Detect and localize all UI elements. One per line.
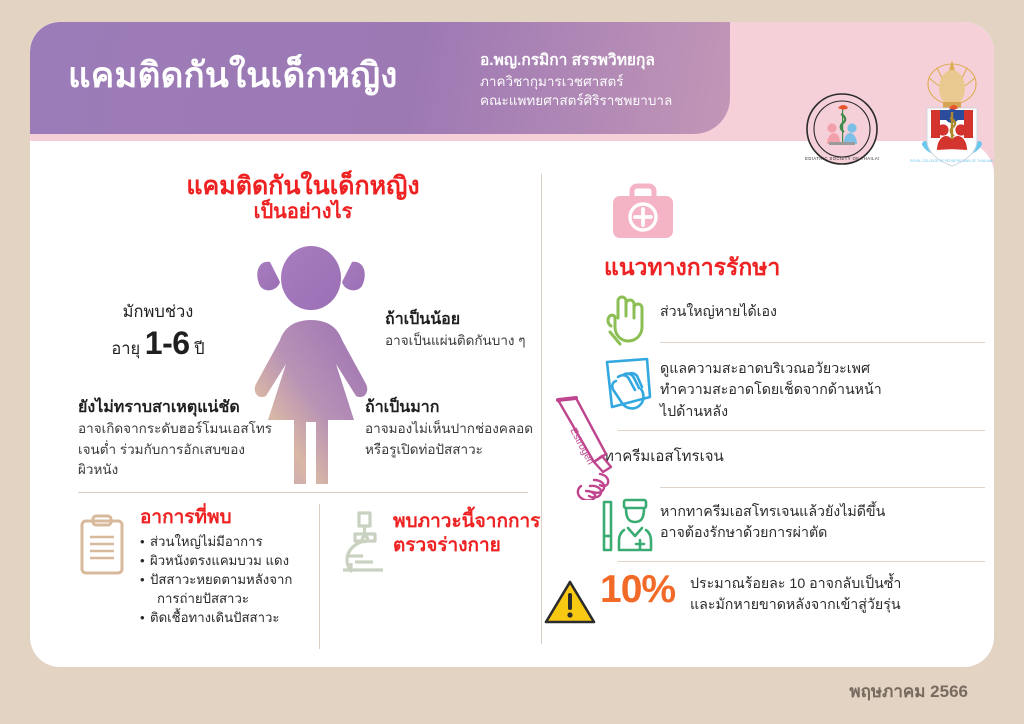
mild-body: อาจเป็นแผ่นติดกันบาง ๆ [385,331,550,351]
treatment-row-self-resolving: ส่วนใหญ่หายได้เอง [604,302,984,323]
list-item: •ผิวหนังตรงแคมบวม แดง [140,551,345,570]
symptom-text: ติดเชื้อทางเดินปัสสาวะ [150,610,280,625]
cause-body: อาจเกิดจากระดับฮอร์โมนเอสโทรเจนต่ำ ร่วมก… [78,419,283,480]
surgery-line1: หากทาครีมเอสโทรเจนแล้วยังไม่ดีขึ้น [660,502,990,523]
mild-case-block: ถ้าเป็นน้อย อาจเป็นแผ่นติดกันบาง ๆ [385,309,550,352]
exam-title: พบภาวะนี้จากการตรวจร่างกาย [393,510,540,559]
symptom-text: ผิวหนังตรงแคมบวม แดง [150,553,289,568]
microscope-icon [335,510,391,581]
list-item: •ปัสสาวะหยดตามหลังจาก [140,570,345,589]
treatment-row-surgery: หากทาครีมเอสโทรเจนแล้วยังไม่ดีขึ้น อาจต้… [660,502,990,545]
infographic-page: แคมติดกันในเด็กหญิง อ.พญ.กรมิกา สรรพวิทย… [0,0,1024,724]
hygiene-line1: ดูแลความสะอาดบริเวณอวัยวะเพศ [660,359,990,380]
age-range-block: มักพบช่วง อายุ 1-6 ปี [78,302,238,363]
bullet-glyph: • [140,551,145,570]
divider-4 [618,561,985,562]
bullet-glyph: • [140,608,145,627]
divider-2 [618,430,985,431]
footer-date: พฤษภาคม 2566 [0,678,1024,705]
symptoms-title: อาการที่พบ [140,506,345,531]
author-name: อ.พญ.กรมิกา สรรพวิทยกุล [480,50,672,72]
exam-title-line1: พบภาวะนี้จากการ [393,511,540,532]
symptom-text: การถ่ายปัสสาวะ [157,591,249,606]
surgery-line2: อาจต้องรักษาด้วยการผ่าตัด [660,523,990,544]
recurrence-line2: และมักหายขาดหลังจากเข้าสู่วัยรุ่น [690,595,990,616]
list-item: •ส่วนใหญ่ไม่มีอาการ [140,532,345,551]
age-prefix: อายุ [111,340,140,358]
recurrence-line1: ประมาณร้อยละ 10 อาจกลับเป็นซ้ำ [690,574,990,595]
left-horizontal-divider [78,492,528,493]
author-credits: อ.พญ.กรมิกา สรรพวิทยกุล ภาควิชากุมารเวชศ… [480,50,672,110]
symptom-text: ปัสสาวะหยดตามหลังจาก [150,572,292,587]
symptoms-list: •ส่วนใหญ่ไม่มีอาการ •ผิวหนังตรงแคมบวม แด… [140,532,345,628]
age-value-line: อายุ 1-6 ปี [78,323,238,363]
bullet-glyph: • [140,570,145,589]
surgeon-scalpel-icon [598,496,658,561]
hand-ok-icon [604,292,650,351]
age-suffix: ปี [194,340,204,358]
warning-triangle-icon [544,578,596,631]
age-value: 1-6 [145,325,190,361]
cause-heading: ยังไม่ทราบสาเหตุแน่ชัด [78,397,283,419]
treatment-row-hygiene: ดูแลความสะอาดบริเวณอวัยวะเพศ ทำความสะอาด… [660,359,990,423]
left-column: แคมติดกันในเด็กหญิง เป็นอย่างไร [30,154,540,667]
estrogen-tube-label: Estrogen [567,426,596,467]
list-item-continuation: การถ่ายปัสสาวะ [140,589,345,608]
treatment-heading: แนวทางการรักษา [604,250,780,286]
cause-block: ยังไม่ทราบสาเหตุแน่ชัด อาจเกิดจากระดับฮอ… [78,397,283,480]
age-label: มักพบช่วง [78,302,238,323]
symptom-text: ส่วนใหญ่ไม่มีอาการ [150,534,263,549]
severe-body: อาจมองไม่เห็นปากช่องคลอดหรือรูเปิดท่อปัส… [365,419,555,460]
symptoms-text: อาการที่พบ •ส่วนใหญ่ไม่มีอาการ •ผิวหนังต… [140,506,345,627]
exam-title-line2: ตรวจร่างกาย [393,535,501,556]
list-item: •ติดเชื้อทางเดินปัสสาวะ [140,608,345,627]
severe-heading: ถ้าเป็นมาก [365,397,555,419]
self-resolving-text: ส่วนใหญ่หายได้เอง [660,302,777,323]
page-title: แคมติดกันในเด็กหญิง [68,48,398,103]
first-aid-kit-icon [610,182,676,247]
mild-heading: ถ้าเป็นน้อย [385,309,550,331]
severe-case-block: ถ้าเป็นมาก อาจมองไม่เห็นปากช่องคลอดหรือร… [365,397,555,460]
bullet-glyph: • [140,532,145,551]
estrogen-text: ทาครีมเอสโทรเจน [604,446,984,469]
estrogen-cream-tube-icon: Estrogen [550,396,626,505]
hygiene-line3: ไปด้านหลัง [660,402,990,423]
divider-3 [660,487,985,488]
author-faculty: คณะแพทยศาสตร์ศิริราชพยาบาล [480,91,672,110]
content-body: แคมติดกันในเด็กหญิง เป็นอย่างไร [30,154,994,667]
section-heading-line2: เป็นอย่างไร [158,200,448,224]
section-heading-line1: แคมติดกันในเด็กหญิง [158,172,448,200]
section-heading-condition: แคมติดกันในเด็กหญิง เป็นอย่างไร [158,172,448,224]
recurrence-text: ประมาณร้อยละ 10 อาจกลับเป็นซ้ำ และมักหาย… [690,574,990,617]
treatment-row-estrogen-cream: Estrogen ทาครีมเอสโทรเจน [604,446,984,469]
recurrence-percent: 10% [600,568,675,612]
divider-1 [660,342,985,343]
clipboard-icon [78,514,126,581]
author-department: ภาควิชากุมารเวชศาสตร์ [480,72,672,91]
right-column: แนวทางการรักษา [542,154,994,667]
content-card: แคมติดกันในเด็กหญิง อ.พญ.กรมิกา สรรพวิทย… [30,22,994,667]
header-purple-band: แคมติดกันในเด็กหญิง อ.พญ.กรมิกา สรรพวิทย… [30,22,730,134]
hygiene-line2: ทำความสะอาดโดยเช็ดจากด้านหน้า [660,380,990,401]
